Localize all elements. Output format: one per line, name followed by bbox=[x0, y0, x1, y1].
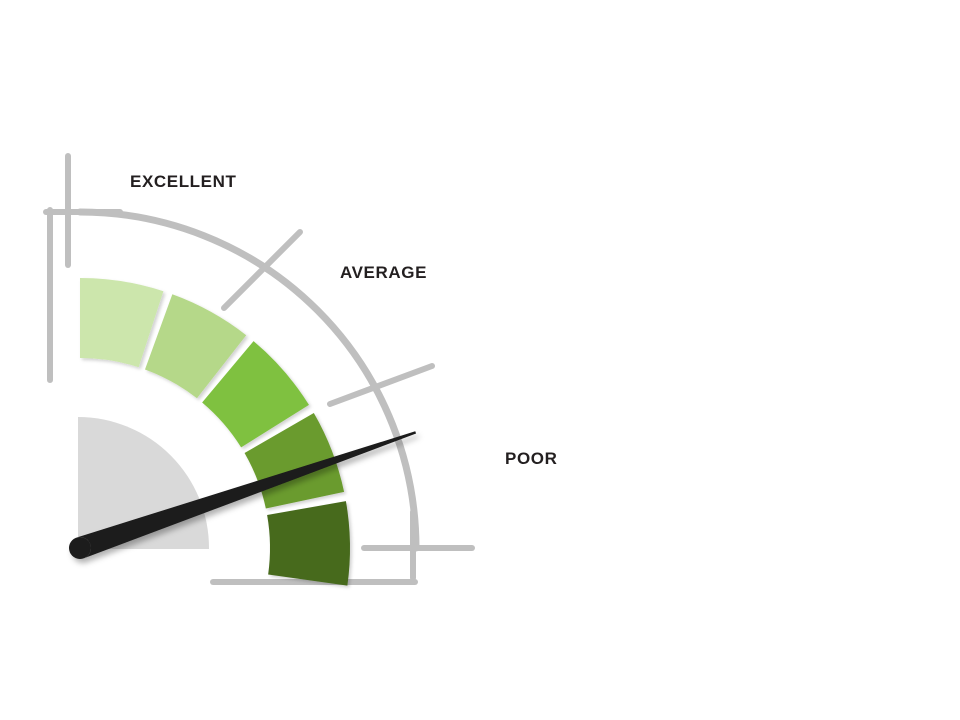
zone-label-excellent: EXCELLENT bbox=[130, 172, 236, 192]
gauge-segment-5 bbox=[267, 501, 350, 585]
gauge-svg bbox=[0, 0, 960, 720]
tick-mark-1 bbox=[224, 232, 300, 308]
gauge-chart: EXCELLENT AVERAGE POOR bbox=[0, 0, 960, 720]
zone-label-poor: POOR bbox=[505, 449, 557, 469]
zone-label-average: AVERAGE bbox=[340, 263, 427, 283]
gauge-needle-pivot[interactable] bbox=[69, 537, 91, 559]
